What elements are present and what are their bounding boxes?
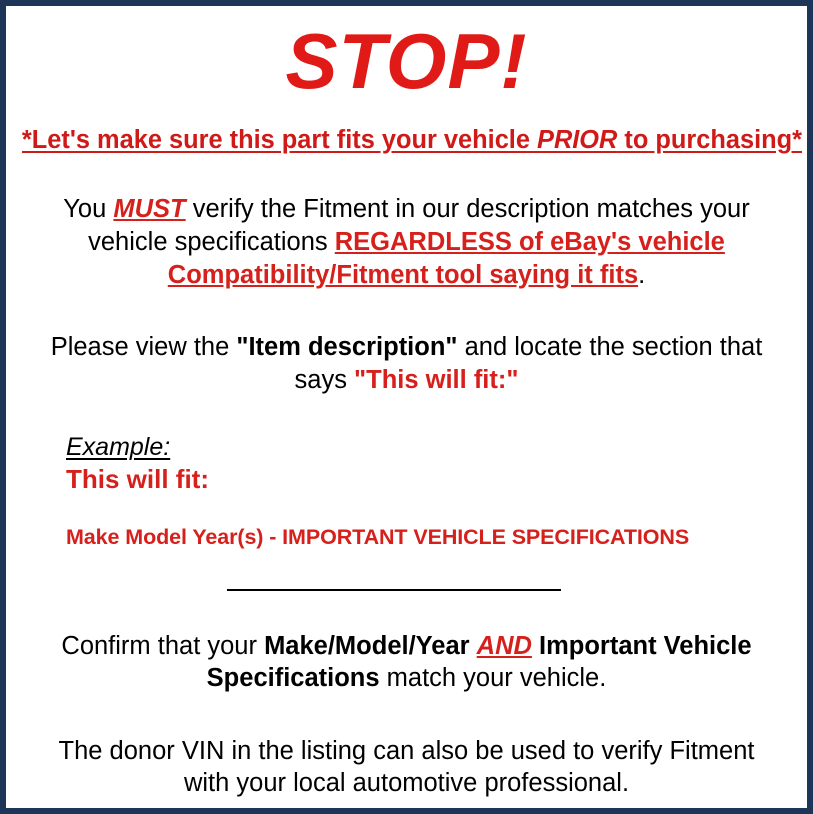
example-block: Example: This will fit: Make Model Year(… (20, 434, 793, 549)
subtitle-tail-text: to purchasing* (617, 126, 802, 154)
horizontal-divider (227, 589, 561, 591)
must-part1-text: You (63, 195, 113, 223)
must-verify-paragraph: You MUST verify the Fitment in our descr… (20, 193, 793, 291)
subtitle-prior-emphasis: PRIOR (537, 126, 617, 154)
confirm-space-2 (532, 632, 539, 660)
itemdesc-part1-text: Please view the (51, 333, 237, 361)
this-will-fit-quote: "This will fit:" (354, 366, 518, 394)
confirm-space-1 (470, 632, 477, 660)
must-part3-text: . (638, 261, 645, 289)
fitment-subtitle: *Let's make sure this part fits your veh… (22, 126, 791, 155)
confirm-paragraph: Confirm that your Make/Model/Year AND Im… (20, 630, 793, 695)
stop-headline: STOP! (20, 22, 793, 100)
confirm-part2-text: match your vehicle. (380, 664, 607, 692)
item-description-paragraph: Please view the "Item description" and l… (20, 331, 793, 396)
item-description-label: "Item description" (236, 333, 457, 361)
subtitle-lead-text: *Let's make sure this part fits your veh… (22, 126, 537, 154)
example-fit-heading: This will fit: (66, 465, 793, 495)
example-spec-line: Make Model Year(s) - IMPORTANT VEHICLE S… (66, 525, 793, 550)
vin-paragraph: The donor VIN in the listing can also be… (20, 735, 793, 800)
example-label: Example: (66, 434, 170, 462)
divider-wrapper (20, 578, 793, 596)
and-emphasis: AND (477, 632, 532, 660)
example-label-row: Example: (66, 434, 793, 462)
make-model-year-emphasis: Make/Model/Year (264, 632, 470, 660)
confirm-part1-text: Confirm that your (61, 632, 264, 660)
must-emphasis: MUST (113, 195, 185, 223)
notice-content: STOP! *Let's make sure this part fits yo… (6, 22, 807, 814)
fitment-notice-card: STOP! *Let's make sure this part fits yo… (0, 0, 813, 814)
